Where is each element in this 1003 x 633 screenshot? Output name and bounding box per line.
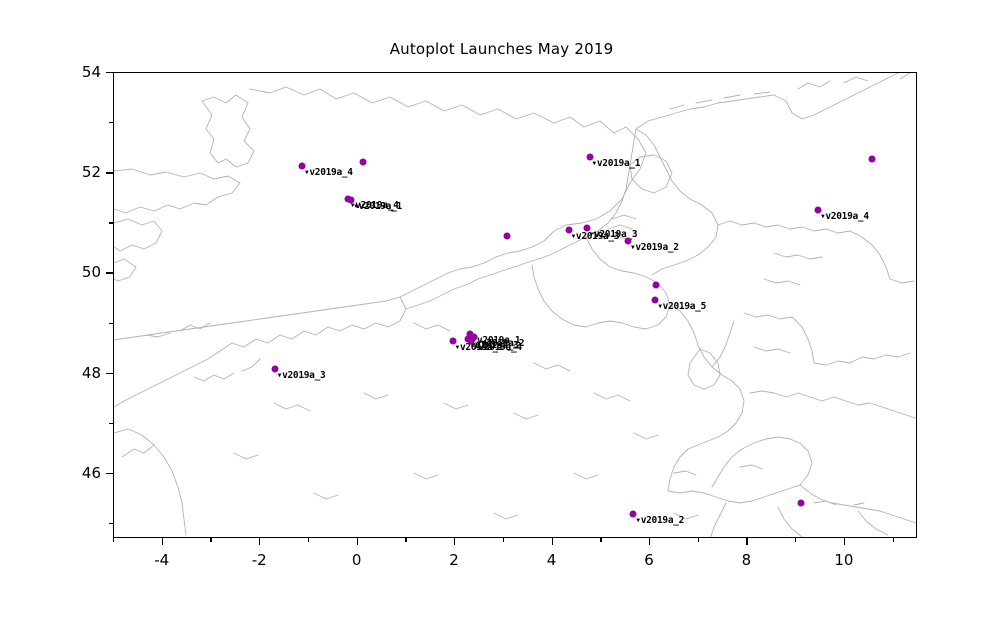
x-tick-label: 4 <box>522 551 582 569</box>
y-tick-label: 48 <box>55 364 101 382</box>
y-tick-major <box>106 72 113 73</box>
x-tick-major <box>746 538 747 545</box>
data-point-label: v2019a_4 <box>474 342 522 353</box>
x-tick-minor <box>698 538 699 542</box>
y-tick-minor <box>109 523 113 524</box>
y-tick-major <box>106 272 113 273</box>
x-tick-label: -4 <box>132 551 192 569</box>
x-tick-minor <box>308 538 309 542</box>
scatter-map-figure: Autoplot Launches May 2019 <box>0 0 1003 633</box>
x-tick-label: 10 <box>814 551 874 569</box>
data-point-label: v2019a_2 <box>631 242 679 253</box>
x-tick-major <box>357 538 358 545</box>
data-point[interactable] <box>653 281 660 288</box>
y-tick-major <box>106 172 113 173</box>
y-tick-minor <box>109 122 113 123</box>
data-point[interactable] <box>359 159 366 166</box>
x-tick-label: 8 <box>716 551 776 569</box>
y-tick-major <box>106 373 113 374</box>
y-tick-major <box>106 473 113 474</box>
data-point-label: v2019a_1 <box>354 201 402 212</box>
x-tick-label: 2 <box>424 551 484 569</box>
x-tick-label: 6 <box>619 551 679 569</box>
y-tick-label: 54 <box>55 63 101 81</box>
data-point[interactable] <box>503 233 510 240</box>
x-tick-major <box>162 538 163 545</box>
data-point[interactable] <box>798 499 805 506</box>
y-tick-label: 52 <box>55 163 101 181</box>
data-point-label: v2019a_3 <box>278 370 326 381</box>
y-tick-minor <box>109 423 113 424</box>
page-title: Autoplot Launches May 2019 <box>0 40 1003 58</box>
data-point-label: v2019a_1 <box>593 158 641 169</box>
data-point-label: v2019a_5 <box>658 301 706 312</box>
y-tick-minor <box>109 222 113 223</box>
y-tick-label: 50 <box>55 263 101 281</box>
x-tick-minor <box>503 538 504 542</box>
y-tick-minor <box>109 323 113 324</box>
x-tick-minor <box>210 538 211 542</box>
x-tick-major <box>454 538 455 545</box>
x-tick-major <box>259 538 260 545</box>
data-point-label: v2019a_4 <box>305 167 353 178</box>
x-tick-major <box>844 538 845 545</box>
data-point-label: v2019a_2 <box>636 515 684 526</box>
x-tick-label: -2 <box>229 551 289 569</box>
x-tick-minor <box>113 538 114 542</box>
data-point-label: v2019a_4 <box>821 211 869 222</box>
y-tick-label: 46 <box>55 464 101 482</box>
x-tick-label: 0 <box>327 551 387 569</box>
data-point[interactable] <box>869 155 876 162</box>
x-tick-minor <box>893 538 894 542</box>
x-tick-major <box>649 538 650 545</box>
x-tick-minor <box>795 538 796 542</box>
basemap-coastlines <box>114 73 917 538</box>
plot-area <box>113 72 917 538</box>
x-tick-minor <box>600 538 601 542</box>
x-tick-major <box>552 538 553 545</box>
x-tick-minor <box>405 538 406 542</box>
